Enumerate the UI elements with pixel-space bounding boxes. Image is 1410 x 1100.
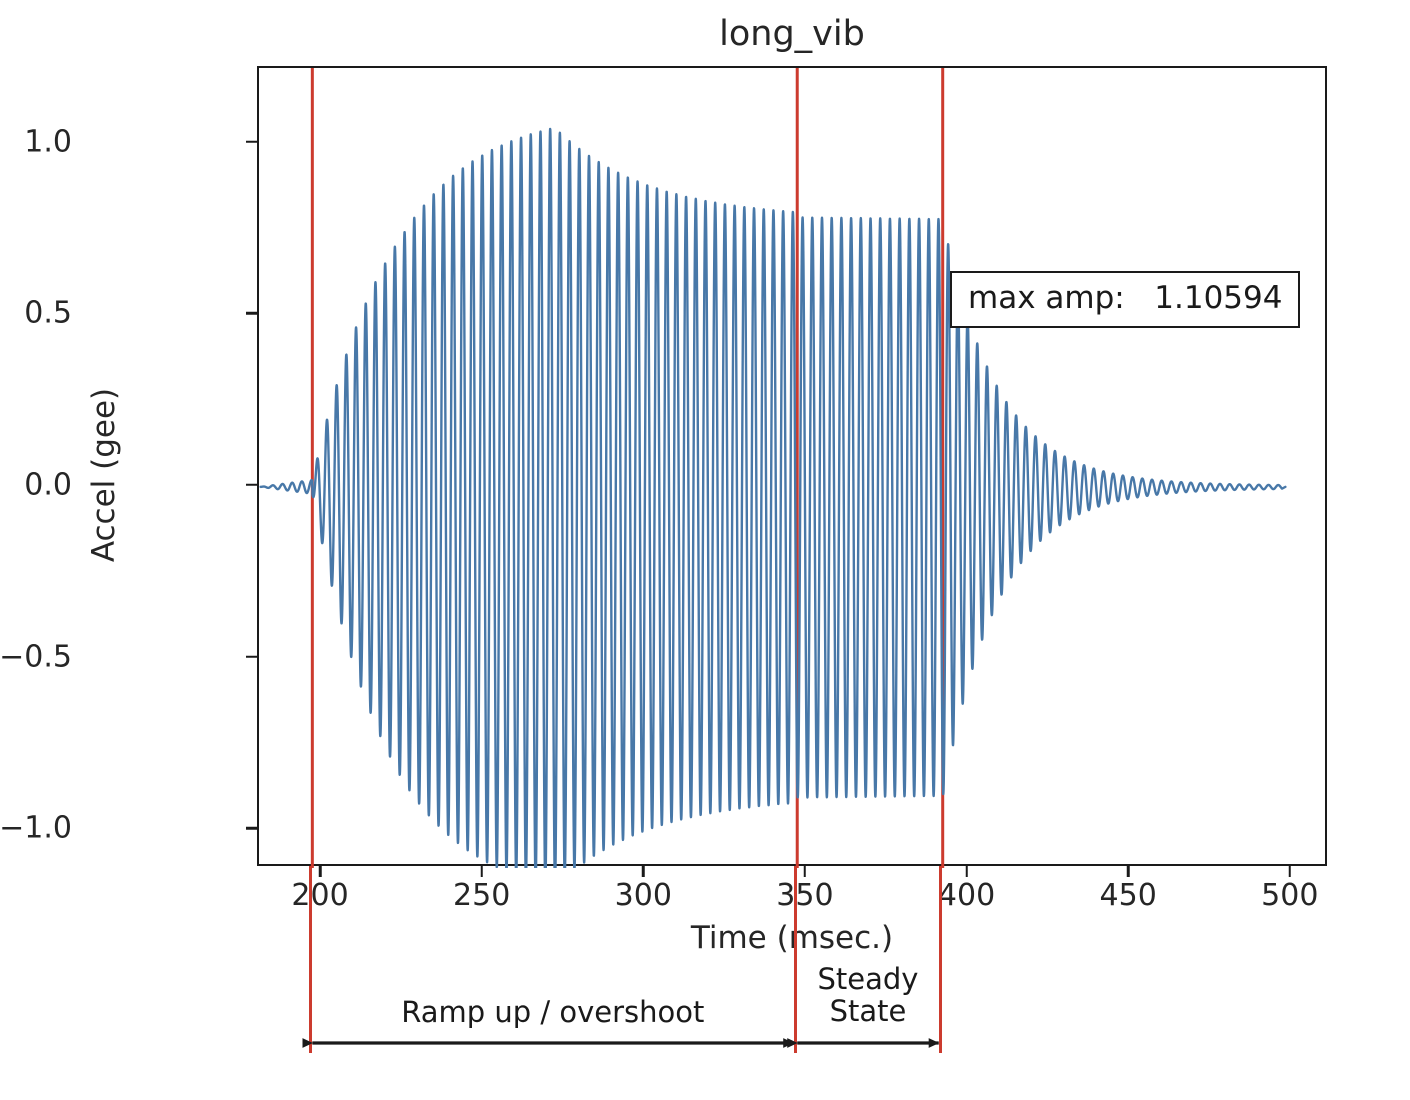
x-tick-label: 450	[1100, 878, 1157, 913]
chart-figure: long_vib Accel (gee) Time (msec.) −1.0−0…	[0, 0, 1410, 1100]
marker-steady-end-extension	[939, 866, 942, 1053]
page-title: long_vib	[257, 14, 1327, 54]
x-tick-label: 350	[776, 878, 833, 913]
y-tick-mark	[246, 484, 257, 487]
x-tick-label: 200	[291, 878, 348, 913]
x-axis-label: Time (msec.)	[691, 920, 893, 956]
max-amp-annotation: max amp: 1.10594	[950, 271, 1300, 328]
x-tick-label: 300	[615, 878, 672, 913]
y-tick-label: 0.0	[24, 467, 72, 502]
marker-ramp-start-extension	[309, 866, 312, 1053]
y-tick-mark	[246, 827, 257, 830]
waveform-line	[261, 129, 1286, 868]
y-tick-label: 0.5	[24, 296, 72, 331]
ramp-up-span-label: Ramp up / overshoot	[401, 996, 704, 1028]
y-tick-mark	[246, 655, 257, 658]
marker-steady-start-extension	[794, 866, 797, 1053]
x-tick-label: 250	[453, 878, 510, 913]
steady-state-span-label: Steady State	[817, 963, 918, 1028]
y-tick-mark	[246, 312, 257, 315]
x-tick-label: 400	[938, 878, 995, 913]
waveform-canvas	[259, 68, 1329, 868]
y-tick-mark	[246, 140, 257, 143]
y-axis-label: Accel (gee)	[86, 388, 122, 562]
plot-area	[257, 66, 1327, 866]
y-tick-label: −0.5	[0, 639, 72, 674]
y-tick-label: −1.0	[0, 811, 72, 846]
y-tick-label: 1.0	[24, 124, 72, 159]
x-tick-label: 500	[1261, 878, 1318, 913]
